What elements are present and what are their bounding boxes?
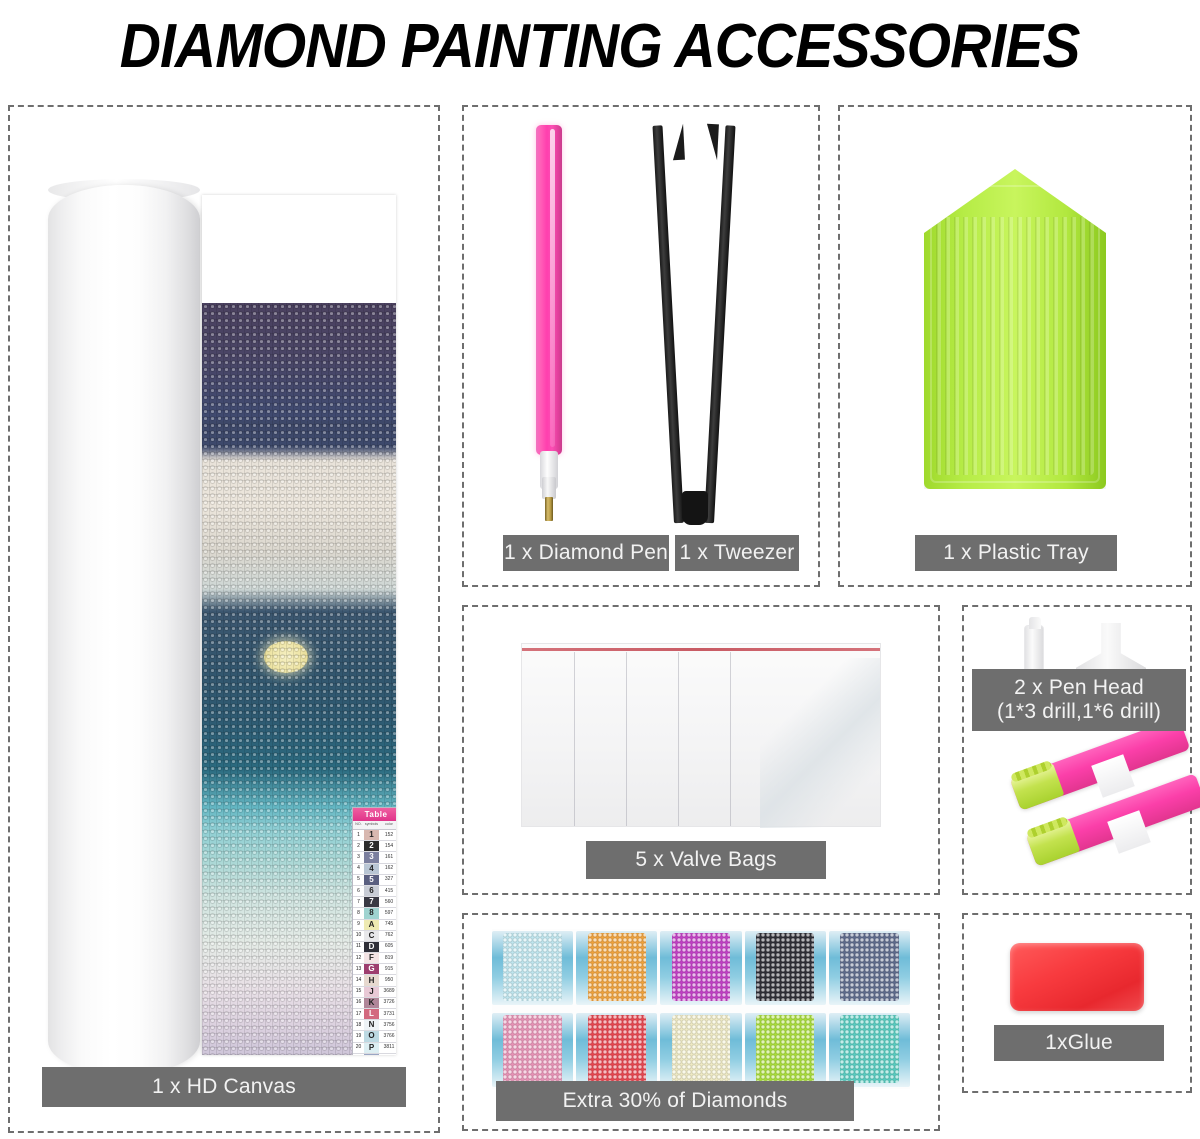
color-table-title: Table xyxy=(353,808,396,821)
color-row-number: 2 xyxy=(353,841,364,851)
color-row-symbol: H xyxy=(364,975,379,985)
diamond-bag-fill xyxy=(588,933,646,1001)
color-row-number: 4 xyxy=(353,864,364,874)
color-row-code: 762 xyxy=(379,931,396,941)
color-row-number: 21 xyxy=(353,1054,364,1055)
panel-pen-tweezer[interactable]: 1 x Diamond Pen 1 x Tweezer xyxy=(462,105,820,587)
color-row-symbol: L xyxy=(364,1009,379,1019)
color-row-symbol: D xyxy=(364,942,379,952)
diamond-bag-row xyxy=(492,931,910,1005)
diamond-bag xyxy=(745,1013,826,1087)
color-row-number: 8 xyxy=(353,908,364,918)
diamond-bag xyxy=(492,1013,573,1087)
panel-plastic-tray[interactable]: 1 x Plastic Tray xyxy=(838,105,1192,587)
tweezer-arm-right xyxy=(704,125,736,523)
caption-extra-diamonds: Extra 30% of Diamonds xyxy=(496,1081,854,1121)
caption-hd-canvas: 1 x HD Canvas xyxy=(42,1067,406,1107)
color-table-row: 9A745 xyxy=(353,920,396,931)
color-row-number: 15 xyxy=(353,987,364,997)
color-row-number: 3 xyxy=(353,852,364,862)
color-table-row: 18N3756 xyxy=(353,1020,396,1031)
color-table-body: 1115222154331614416255327664157756088597… xyxy=(353,830,396,1055)
color-row-code: 745 xyxy=(379,920,396,930)
diamond-bag xyxy=(576,931,657,1005)
col-code: color xyxy=(379,821,396,829)
diamond-pen xyxy=(528,125,570,525)
color-row-symbol: O xyxy=(364,1031,379,1041)
caption-plastic-tray: 1 x Plastic Tray xyxy=(915,535,1117,571)
pen-collar-inner xyxy=(542,477,556,499)
color-table-row: 12F819 xyxy=(353,953,396,964)
color-row-number: 1 xyxy=(353,830,364,840)
col-no: NO. xyxy=(353,821,364,829)
valve-bag-sheen xyxy=(760,658,880,828)
color-row-symbol: 8 xyxy=(364,908,379,918)
color-table-row: 17L3731 xyxy=(353,1009,396,1020)
color-row-symbol: C xyxy=(364,931,379,941)
color-table-row: 10C762 xyxy=(353,931,396,942)
color-reference-table: Table NO. symbols color 1115222154331614… xyxy=(352,807,396,1055)
color-row-code: 3766 xyxy=(379,1031,396,1041)
color-table-row: 15J3689 xyxy=(353,987,396,998)
color-row-code: 3731 xyxy=(379,1009,396,1019)
glue-clay-block xyxy=(1010,943,1144,1011)
tweezer xyxy=(660,125,730,525)
diamond-bag xyxy=(829,1013,910,1087)
valve-bag-divider xyxy=(626,652,627,826)
diamond-bag-fill xyxy=(503,933,561,1001)
canvas-blank-margin xyxy=(202,195,396,303)
caption-pen-head-line2: (1*3 drill,1*6 drill) xyxy=(997,700,1161,724)
color-row-code: 560 xyxy=(379,897,396,907)
page-title: DIAMOND PAINTING ACCESSORIES xyxy=(120,11,1080,82)
page-header: DIAMOND PAINTING ACCESSORIES xyxy=(0,0,1200,92)
caption-pen-head-line1: 2 x Pen Head xyxy=(1014,676,1144,700)
color-row-code: 597 xyxy=(379,908,396,918)
color-row-number: 20 xyxy=(353,1043,364,1053)
color-row-symbol: K xyxy=(364,998,379,1008)
color-row-number: 16 xyxy=(353,998,364,1008)
color-table-row: 20P3811 xyxy=(353,1043,396,1054)
color-table-row: 55327 xyxy=(353,875,396,886)
color-row-number: 12 xyxy=(353,953,364,963)
color-table-row: 21R3838 xyxy=(353,1054,396,1055)
pen-metal-tip xyxy=(545,497,553,521)
color-table-row: 44162 xyxy=(353,864,396,875)
color-row-code: 819 xyxy=(379,953,396,963)
valve-bag-divider xyxy=(678,652,679,826)
color-row-number: 18 xyxy=(353,1020,364,1030)
diamond-bag xyxy=(576,1013,657,1087)
color-row-symbol: A xyxy=(364,920,379,930)
color-table-row: 33161 xyxy=(353,852,396,863)
diamond-bag xyxy=(660,1013,741,1087)
color-row-code: 3811 xyxy=(379,1043,396,1053)
caption-tweezer: 1 x Tweezer xyxy=(675,535,799,571)
color-table-row: 66415 xyxy=(353,886,396,897)
color-row-number: 6 xyxy=(353,886,364,896)
color-row-symbol: 6 xyxy=(364,886,379,896)
color-row-symbol: P xyxy=(364,1043,379,1053)
color-row-code: 605 xyxy=(379,942,396,952)
color-row-number: 10 xyxy=(353,931,364,941)
diamond-bag-fill xyxy=(672,1015,730,1083)
color-row-code: 152 xyxy=(379,830,396,840)
color-row-number: 9 xyxy=(353,920,364,930)
diamond-bag xyxy=(745,931,826,1005)
tweezer-joint xyxy=(682,491,708,525)
diamond-bag-fill xyxy=(756,1015,814,1083)
color-row-symbol: F xyxy=(364,953,379,963)
color-table-row: 77560 xyxy=(353,897,396,908)
panel-valve-bags[interactable]: 5 x Valve Bags xyxy=(462,605,940,895)
pen-highlight xyxy=(550,129,555,447)
color-row-code: 154 xyxy=(379,841,396,851)
caption-glue: 1xGlue xyxy=(994,1025,1164,1061)
diamond-bag xyxy=(492,931,573,1005)
color-row-code: 161 xyxy=(379,852,396,862)
diamond-bag xyxy=(829,931,910,1005)
color-table-row: 88597 xyxy=(353,908,396,919)
color-table-row: 19O3766 xyxy=(353,1031,396,1042)
col-symbol: symbols xyxy=(364,821,379,829)
color-row-code: 3689 xyxy=(379,987,396,997)
diamond-bag-fill xyxy=(672,933,730,1001)
color-row-symbol: 5 xyxy=(364,875,379,885)
diamond-bag-fill xyxy=(840,1015,898,1083)
plastic-tray xyxy=(924,169,1106,489)
diamond-bag-row xyxy=(492,1013,910,1087)
diamond-bag xyxy=(660,931,741,1005)
valve-bag-divider xyxy=(730,652,731,826)
color-table-row: 11D605 xyxy=(353,942,396,953)
tweezer-tip-right xyxy=(705,124,719,161)
color-row-number: 17 xyxy=(353,1009,364,1019)
color-row-number: 14 xyxy=(353,975,364,985)
valve-bags-stack xyxy=(521,643,881,827)
color-row-code: 415 xyxy=(379,886,396,896)
tweezer-arm-left xyxy=(652,125,684,523)
color-row-code: 3726 xyxy=(379,998,396,1008)
color-table-header-row: NO. symbols color xyxy=(353,821,396,830)
color-row-symbol: 4 xyxy=(364,864,379,874)
diamond-bag-fill xyxy=(840,933,898,1001)
color-table-row: 16K3726 xyxy=(353,998,396,1009)
color-row-code: 915 xyxy=(379,964,396,974)
color-row-number: 11 xyxy=(353,942,364,952)
color-table-row: 11152 xyxy=(353,830,396,841)
color-row-code: 162 xyxy=(379,864,396,874)
color-row-number: 19 xyxy=(353,1031,364,1041)
caption-pen-head: 2 x Pen Head (1*3 drill,1*6 drill) xyxy=(972,669,1186,731)
color-table-row: 22154 xyxy=(353,841,396,852)
color-row-code: 3838 xyxy=(379,1054,396,1055)
caption-valve-bags: 5 x Valve Bags xyxy=(586,841,826,879)
color-row-code: 950 xyxy=(379,975,396,985)
tweezer-tip-left xyxy=(671,124,685,161)
diamond-bag-fill xyxy=(588,1015,646,1083)
accessories-board: Table NO. symbols color 1115222154331614… xyxy=(0,92,1200,1139)
color-row-symbol: 2 xyxy=(364,841,379,851)
valve-bag-divider xyxy=(574,652,575,826)
color-row-symbol: 1 xyxy=(364,830,379,840)
color-row-symbol: J xyxy=(364,987,379,997)
diamond-bag-fill xyxy=(503,1015,561,1083)
pen-barrel xyxy=(536,125,562,455)
caption-diamond-pen: 1 x Diamond Pen xyxy=(503,535,669,571)
color-row-symbol: R xyxy=(364,1054,379,1055)
panel-pen-head[interactable]: 2 x Pen Head (1*3 drill,1*6 drill) xyxy=(962,605,1192,895)
valve-bag-seal-strip xyxy=(522,648,880,651)
color-row-number: 13 xyxy=(353,964,364,974)
color-row-number: 5 xyxy=(353,875,364,885)
color-row-symbol: G xyxy=(364,964,379,974)
color-row-symbol: N xyxy=(364,1020,379,1030)
canvas-roll xyxy=(48,185,200,1075)
diamond-bag-strips xyxy=(492,929,910,1089)
color-row-symbol: 3 xyxy=(364,852,379,862)
diamond-bag-fill xyxy=(756,933,814,1001)
color-row-code: 3756 xyxy=(379,1020,396,1030)
color-row-number: 7 xyxy=(353,897,364,907)
panel-hd-canvas[interactable]: Table NO. symbols color 1115222154331614… xyxy=(8,105,440,1133)
color-table-row: 14H950 xyxy=(353,975,396,986)
tray-grooves xyxy=(936,217,1094,475)
panel-extra-diamonds[interactable]: Extra 30% of Diamonds xyxy=(462,913,940,1131)
canvas-artwork: Table NO. symbols color 1115222154331614… xyxy=(202,195,396,1055)
color-row-code: 327 xyxy=(379,875,396,885)
color-table-row: 13G915 xyxy=(353,964,396,975)
panel-glue[interactable]: 1xGlue xyxy=(962,913,1192,1093)
color-row-symbol: 7 xyxy=(364,897,379,907)
